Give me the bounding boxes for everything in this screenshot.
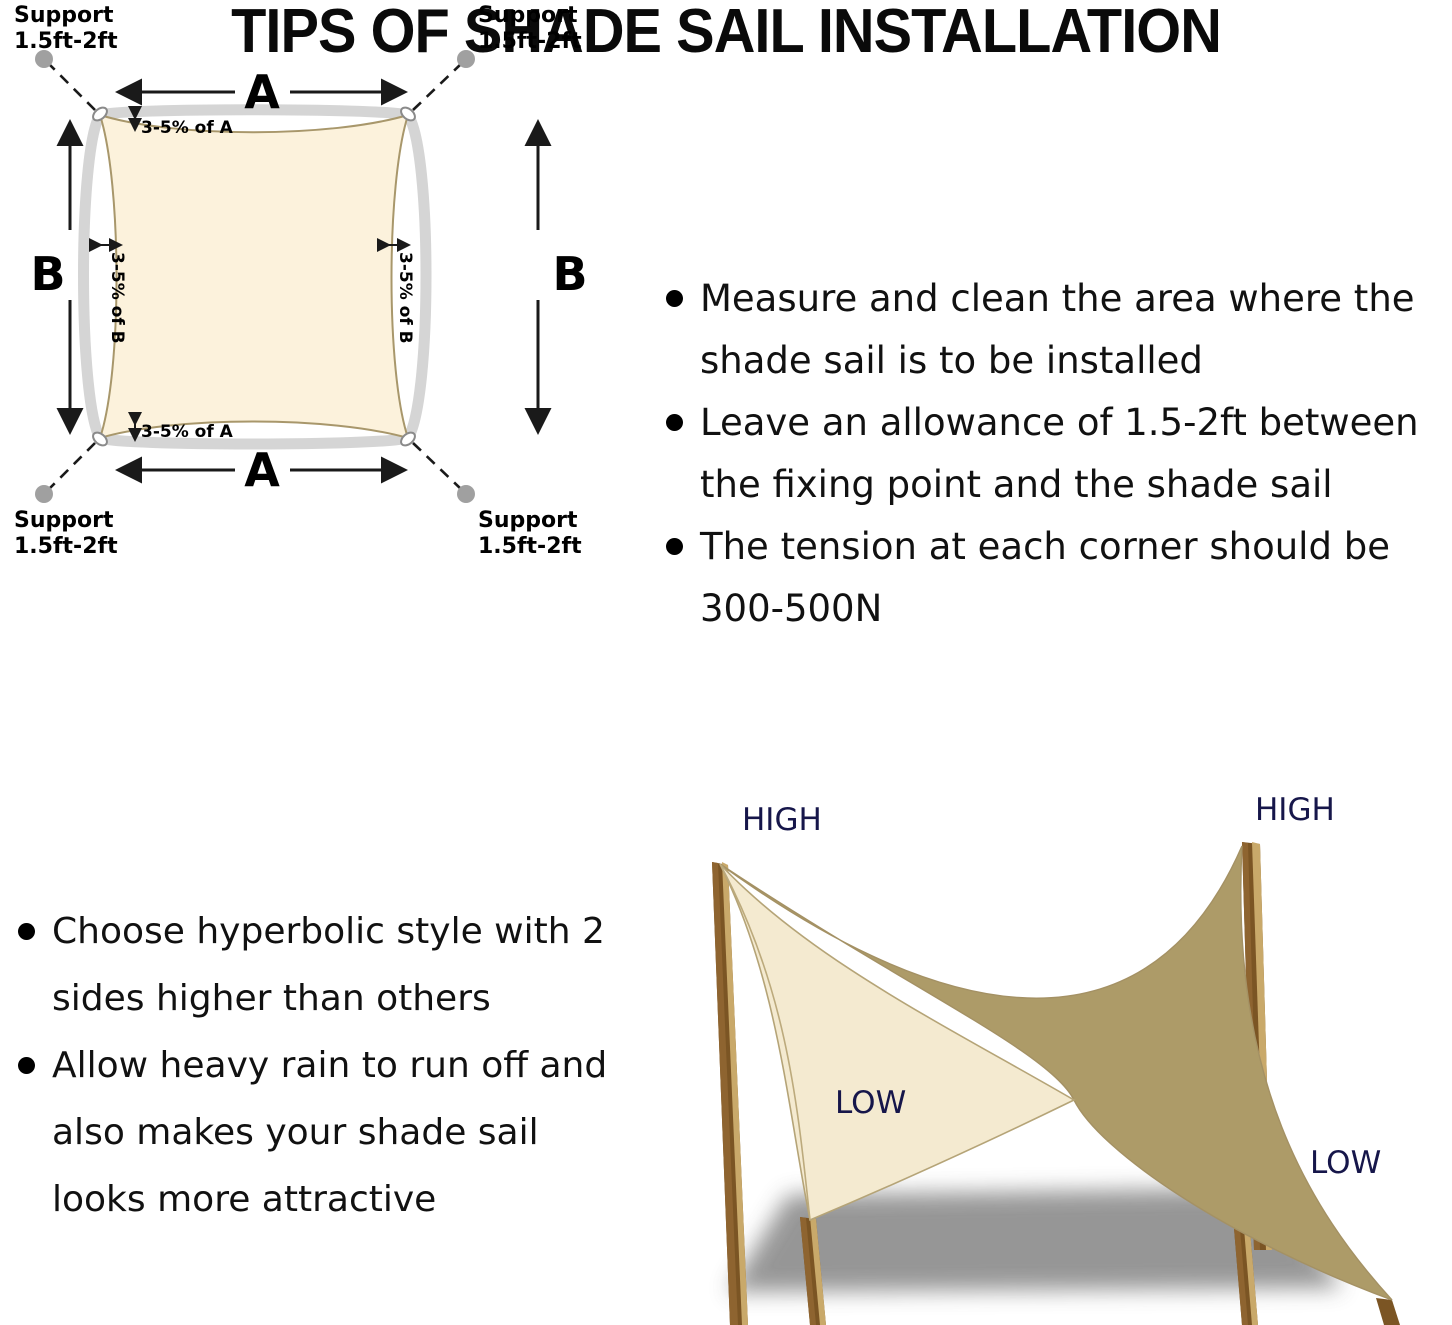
support-label-line2: 1.5ft-2ft <box>478 29 582 54</box>
list-item: Leave an allowance of 1.5-2ft between th… <box>648 392 1452 516</box>
support-label-line2: 1.5ft-2ft <box>478 534 582 559</box>
dimension-label-B-right: B <box>552 247 587 301</box>
curve-label-top: 3-5% of A <box>141 118 234 138</box>
support-label-line1: Support <box>14 3 114 28</box>
post-right-low <box>1376 1298 1400 1325</box>
dimension-label-A-top: A <box>244 65 280 119</box>
installation-tips-list-bottom: Choose hyperbolic style with 2 sides hig… <box>0 898 640 1233</box>
list-item: Choose hyperbolic style with 2 sides hig… <box>0 898 640 1032</box>
installation-tips-list-top: Measure and clean the area where the sha… <box>648 268 1452 640</box>
rectangular-sail-diagram: Support 1.5ft-2ft Support 1.5ft-2ft Supp… <box>0 0 660 580</box>
list-item: Allow heavy rain to run off and also mak… <box>0 1032 640 1233</box>
dimension-label-A-bottom: A <box>244 443 280 497</box>
support-label-top-right: Support 1.5ft-2ft <box>478 3 582 54</box>
list-item: Measure and clean the area where the sha… <box>648 268 1452 392</box>
support-label-line2: 1.5ft-2ft <box>14 29 118 54</box>
post-label-low-right-text: LOW <box>1310 1145 1381 1181</box>
support-label-line1: Support <box>14 508 114 533</box>
post-left-high <box>712 862 748 1325</box>
support-label-line1: Support <box>478 508 578 533</box>
list-item: The tension at each corner should be 300… <box>648 516 1452 640</box>
support-label-top-left: Support 1.5ft-2ft <box>14 3 118 54</box>
post-label-high-left: HIGH <box>742 802 822 838</box>
post-label-high-right: HIGH <box>1255 792 1335 828</box>
shade-sail-body <box>100 115 408 438</box>
curve-label-bottom: 3-5% of A <box>141 422 234 442</box>
hyperbolic-sail-diagram: HIGH HIGH LOW LOW <box>670 780 1452 1325</box>
support-label-line2: 1.5ft-2ft <box>14 534 118 559</box>
curve-label-left: 3-5% of B <box>107 252 127 344</box>
support-label-bottom-right: Support 1.5ft-2ft <box>478 508 582 559</box>
support-label-bottom-left: Support 1.5ft-2ft <box>14 508 118 559</box>
post-label-low-left-text: LOW <box>835 1085 906 1121</box>
support-label-line1: Support <box>478 3 578 28</box>
dimension-label-B-left: B <box>30 247 65 301</box>
curve-label-right: 3-5% of B <box>395 252 415 344</box>
